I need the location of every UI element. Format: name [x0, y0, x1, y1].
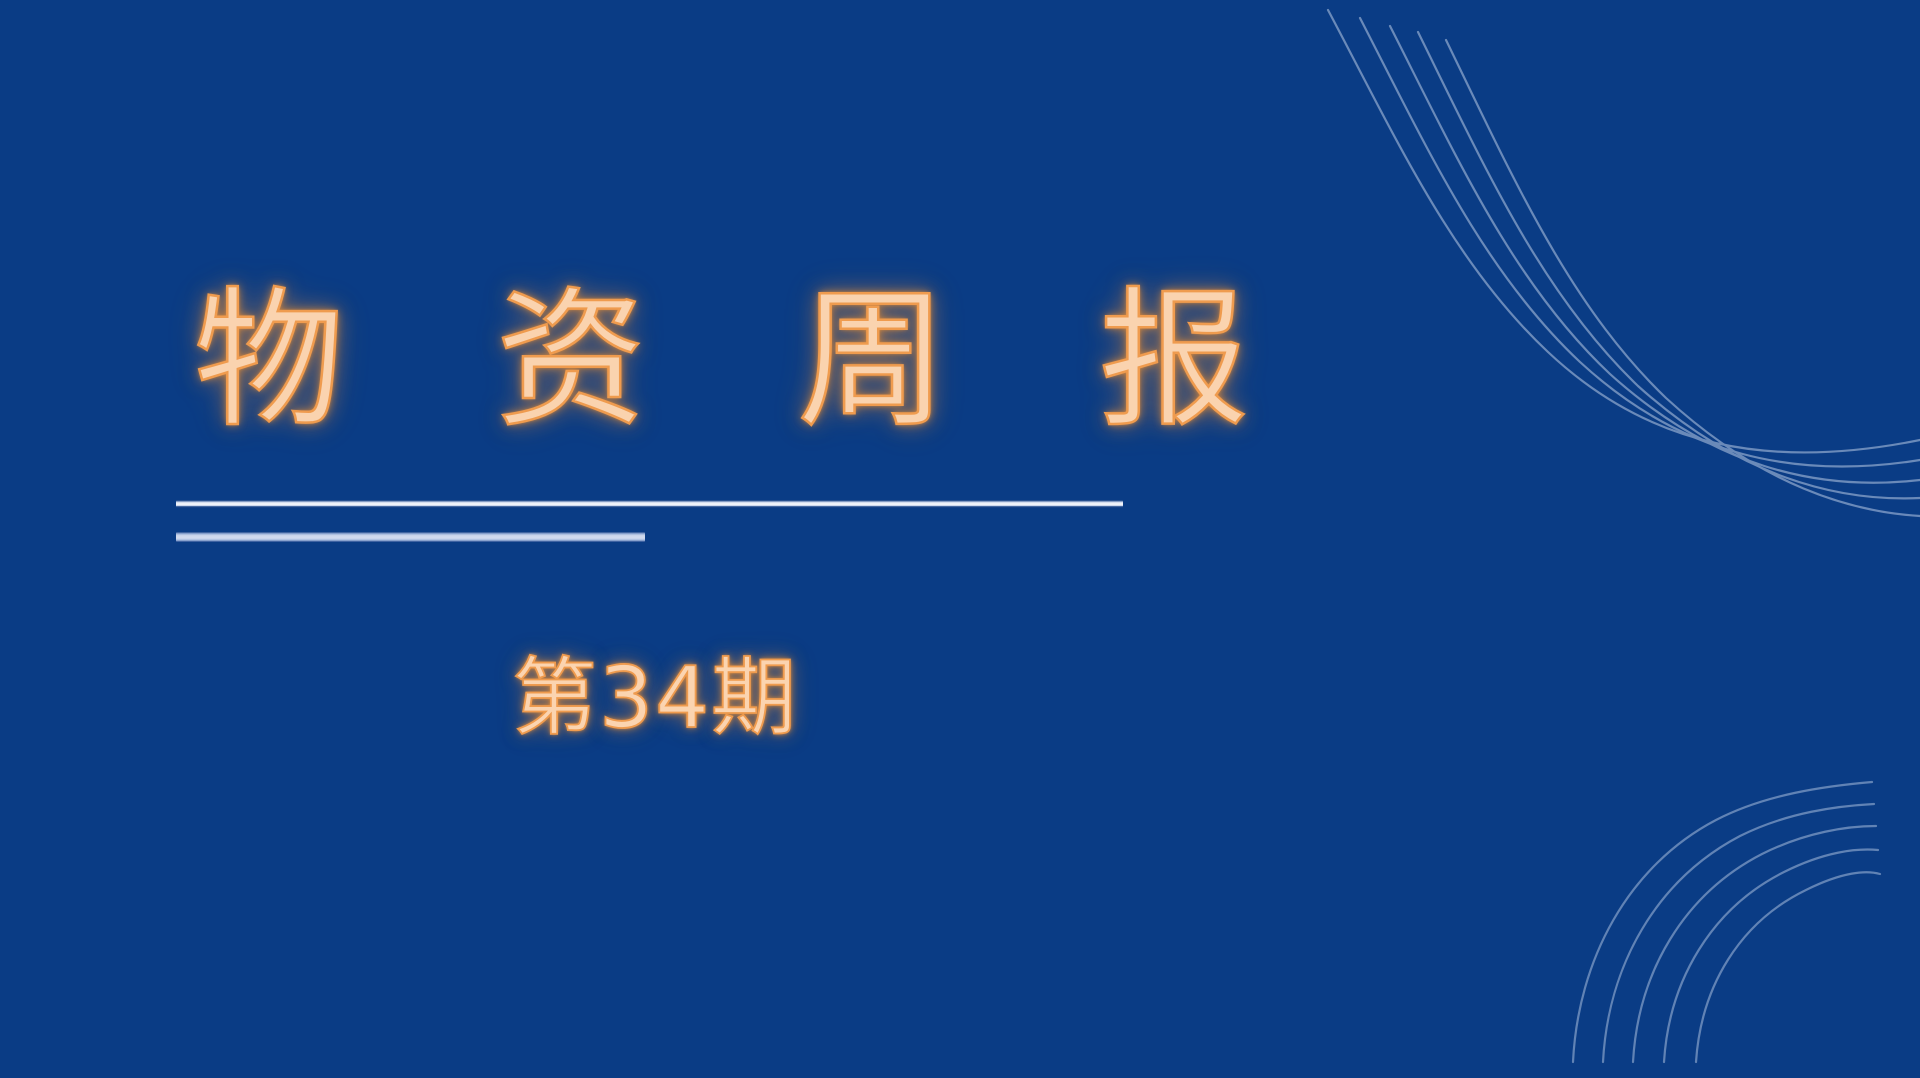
top-curve-4 — [1418, 32, 1920, 498]
issue-subtitle: 第34期 — [512, 654, 798, 743]
top-curve-1 — [1328, 10, 1920, 452]
bottom-arc-3 — [1633, 826, 1876, 1062]
title-underline-long — [176, 500, 1123, 508]
top-curve-2 — [1360, 18, 1920, 467]
page-title: 物 资 周 报 — [176, 286, 1176, 436]
title-slide: 物 资 周 报 第34期 — [0, 0, 1920, 1078]
bottom-arc-5 — [1696, 872, 1880, 1062]
title-block: 物 资 周 报 — [176, 286, 1176, 436]
bottom-arc-4 — [1664, 850, 1878, 1062]
title-underline-short — [176, 532, 645, 542]
bottom-arc-2 — [1603, 804, 1874, 1062]
top-curve-5 — [1446, 40, 1920, 516]
top-curve-3 — [1390, 26, 1920, 483]
bottom-arc-1 — [1573, 782, 1872, 1062]
